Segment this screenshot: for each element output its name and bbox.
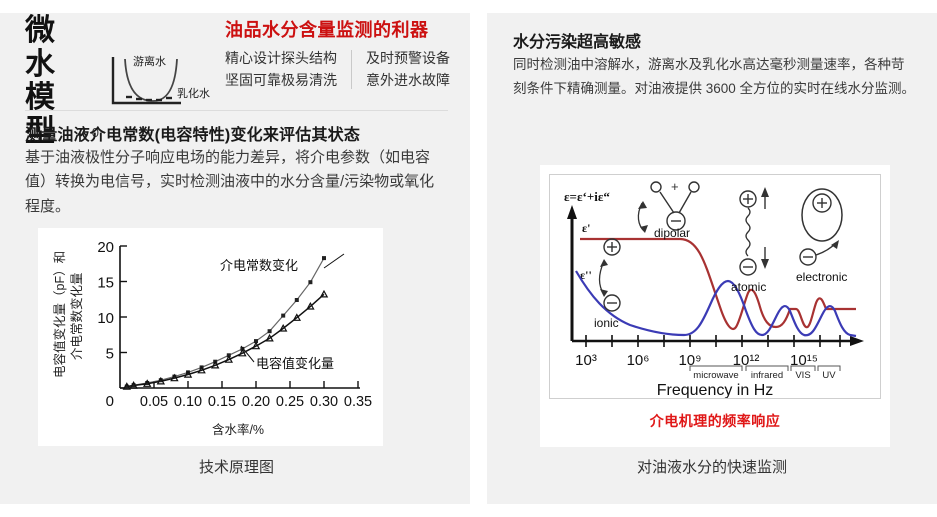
feature-item: 坚固可靠极易清洗 [225, 70, 337, 92]
chart-annotation-capacitance: 电容值变化量 [256, 356, 334, 371]
band-label: microwave [693, 370, 738, 381]
header-text-block: 油品水分含量监测的利器 精心设计探头结构 坚固可靠极易清洗 及时预警设备 意外进… [225, 14, 450, 91]
dielectric-x-arrowhead [850, 336, 864, 346]
header-divider [25, 110, 448, 111]
chart-y-ticks [120, 246, 127, 388]
frequency-tick: 10⁶ [627, 352, 650, 369]
chart-datapoint [295, 298, 299, 302]
feature-divider [351, 50, 352, 89]
chart-xlabel: 含水率/% [212, 422, 264, 437]
chart-xtick: 0.30 [310, 394, 338, 410]
chart-ytick: 5 [106, 346, 114, 363]
feature-item: 精心设计探头结构 [225, 48, 337, 70]
capacitance-dielectric-chart: 电容值变化量（pF）和 介电常数变化量 20 15 10 5 0 [38, 228, 383, 446]
chart-annotation-leader-1 [324, 254, 344, 268]
dielectric-spectrum-diagram: ε=ε‘+iε“ ε' ε'' [550, 175, 880, 398]
dipolar-mechanism-icon: + [638, 179, 699, 233]
chart-ytick: 0 [106, 393, 114, 410]
frequency-axis-label: Frequency in Hz [657, 382, 774, 398]
dielectric-figure-caption: 介电机理的频率响应 [540, 411, 890, 431]
right-section-body: 同时检测油中溶解水，游离水及乳化水高达毫秒测量速率，各种苛刻条件下精确测量。对油… [513, 53, 917, 101]
logo-line-1: 微水 [25, 14, 86, 81]
page-root: 微水 模型 0 游离水 乳化水 [0, 0, 937, 517]
chart-xtick: 0.05 [140, 394, 168, 410]
chart-ylabel-line-1: 电容值变化量（pF）和 [52, 251, 67, 378]
electronic-label: electronic [796, 270, 847, 284]
chart-x-ticklabels: 0.05 0.10 0.15 0.20 0.25 0.30 0.35 [140, 394, 372, 410]
chart-ytick: 15 [97, 275, 114, 292]
band-label: VIS [795, 370, 810, 381]
band-label: infrared [751, 370, 783, 381]
headline: 油品水分含量监测的利器 [225, 16, 450, 42]
emulsified-water-label: 乳化水 [177, 86, 210, 100]
free-water-label: 游离水 [133, 54, 166, 68]
ionic-label: ionic [594, 316, 619, 330]
chart-xtick: 0.35 [344, 394, 372, 410]
chart-xtick: 0.15 [208, 394, 236, 410]
dielectric-figure-card: ε=ε‘+iε“ ε' ε'' [540, 165, 890, 447]
spectrum-band-labels: microwave infrared VIS UV [693, 370, 836, 381]
chart-series-capacitance-markers [124, 291, 328, 389]
right-section-title: 水分污染超高敏感 [513, 28, 913, 52]
ionic-mechanism-icon [600, 239, 621, 311]
frequency-tick: 10³ [575, 352, 597, 369]
left-panel-caption: 技术原理图 [25, 456, 448, 477]
dielectric-axis-title: ε=ε‘+iε“ [564, 189, 610, 204]
left-section-body: 基于油液极性分子响应电场的能力差异，将介电参数（如电容值）转换为电信号，实时检测… [25, 146, 445, 219]
dielectric-y-arrowhead [567, 205, 577, 219]
chart-series-capacitance-line [127, 294, 324, 386]
technical-principle-chart-card: 电容值变化量（pF）和 介电常数变化量 20 15 10 5 0 [38, 228, 383, 446]
chart-ytick: 20 [97, 239, 114, 256]
atomic-label: atomic [731, 280, 766, 294]
feature-column-1: 精心设计探头结构 坚固可靠极易清洗 [225, 48, 337, 91]
atomic-mechanism-icon [740, 187, 769, 275]
chart-datapoint [308, 280, 312, 284]
svg-text:+: + [671, 179, 679, 194]
chart-ylabel-line-2: 介电常数变化量 [69, 272, 84, 360]
brand-header: 微水 模型 0 游离水 乳化水 [25, 14, 450, 98]
chart-ytick: 10 [97, 310, 114, 327]
band-label: UV [822, 370, 836, 381]
chart-datapoint [268, 329, 272, 333]
electronic-mechanism-icon [800, 189, 842, 265]
chart-datapoint [321, 291, 327, 297]
right-panel-caption: 对油液水分的快速监测 [500, 456, 924, 477]
feature-item: 及时预警设备 [366, 48, 450, 70]
dipolar-label: dipolar [654, 226, 690, 240]
chart-datapoint [322, 256, 326, 260]
chart-y-ticklabels: 20 15 10 5 0 [97, 239, 114, 410]
feature-columns: 精心设计探头结构 坚固可靠极易清洗 及时预警设备 意外进水故障 [225, 48, 450, 91]
left-section-title: 测量油液介电常数(电容特性)变化来评估其状态 [25, 121, 450, 145]
chart-datapoint [281, 314, 285, 318]
chart-x-ticks [154, 381, 358, 388]
feature-column-2: 及时预警设备 意外进水故障 [366, 48, 450, 91]
chart-annotation-dielectric: 介电常数变化 [220, 258, 298, 273]
dielectric-figure-frame: ε=ε‘+iε“ ε' ε'' [549, 174, 881, 399]
water-model-diagram-icon: 游离水 乳化水 [103, 53, 211, 115]
chart-xtick: 0.10 [174, 394, 202, 410]
chart-xtick: 0.25 [276, 394, 304, 410]
epsilon-real-label: ε' [582, 221, 590, 235]
feature-item: 意外进水故障 [366, 70, 450, 92]
chart-xtick: 0.20 [242, 394, 270, 410]
